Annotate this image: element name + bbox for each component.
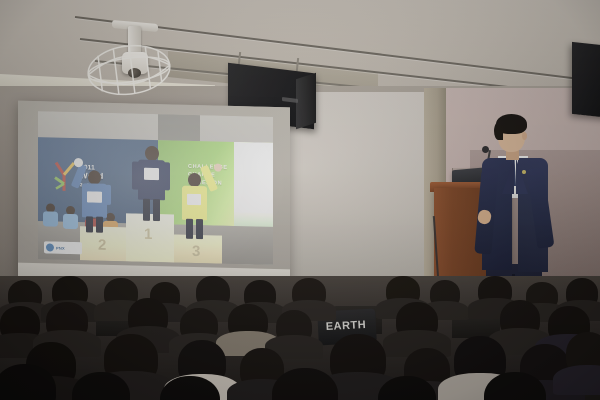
audience-head bbox=[160, 376, 220, 400]
athlete-third-place bbox=[178, 163, 222, 238]
audience-head bbox=[396, 302, 438, 340]
slide-sponsor-badge: PNX bbox=[44, 241, 82, 254]
audience-head bbox=[566, 332, 600, 376]
projected-slide: 2011 World 2 & M CHALLENGE CHANGE COHESI… bbox=[38, 111, 273, 265]
ceiling-speaker-left-side bbox=[296, 73, 316, 129]
audience-head bbox=[272, 368, 338, 400]
audience-head bbox=[180, 308, 218, 342]
audience-head bbox=[46, 302, 88, 340]
audience-head bbox=[228, 304, 268, 340]
presenter-ear bbox=[522, 132, 527, 140]
projection-screen: 2011 World 2 & M CHALLENGE CHANGE COHESI… bbox=[18, 101, 290, 292]
audience-head bbox=[500, 300, 540, 338]
sponsor-badge-text: PNX bbox=[56, 245, 65, 250]
audience-head bbox=[0, 364, 56, 400]
projection-screen-surface: 2011 World 2 & M CHALLENGE CHANGE COHESI… bbox=[18, 101, 290, 292]
athlete-second-place bbox=[74, 158, 114, 231]
seated-audience: EARTH bbox=[0, 276, 600, 400]
presenter-hair-side bbox=[494, 122, 503, 140]
podium-number-1: 1 bbox=[144, 226, 152, 243]
ceiling-speaker-right bbox=[572, 42, 600, 118]
audience-head bbox=[276, 310, 312, 344]
podium-number-2: 2 bbox=[98, 237, 106, 254]
audience-head bbox=[484, 372, 546, 400]
presenter-lapel-pin bbox=[522, 170, 526, 174]
audience-head bbox=[72, 372, 130, 400]
audience-head bbox=[128, 298, 168, 336]
audience-head bbox=[378, 376, 436, 400]
athlete-first-place bbox=[130, 141, 172, 218]
audience-head bbox=[566, 278, 598, 308]
lecture-hall-photo: 2011 World 2 & M CHALLENGE CHANGE COHESI… bbox=[0, 0, 600, 400]
audience-head bbox=[292, 278, 326, 308]
projector-security-cage bbox=[83, 39, 175, 101]
audience-head bbox=[196, 276, 230, 308]
podium-number-3: 3 bbox=[192, 243, 200, 260]
sponsor-logo-icon bbox=[46, 243, 54, 251]
slide-hall-beam bbox=[158, 114, 200, 141]
audience-head bbox=[0, 306, 40, 342]
